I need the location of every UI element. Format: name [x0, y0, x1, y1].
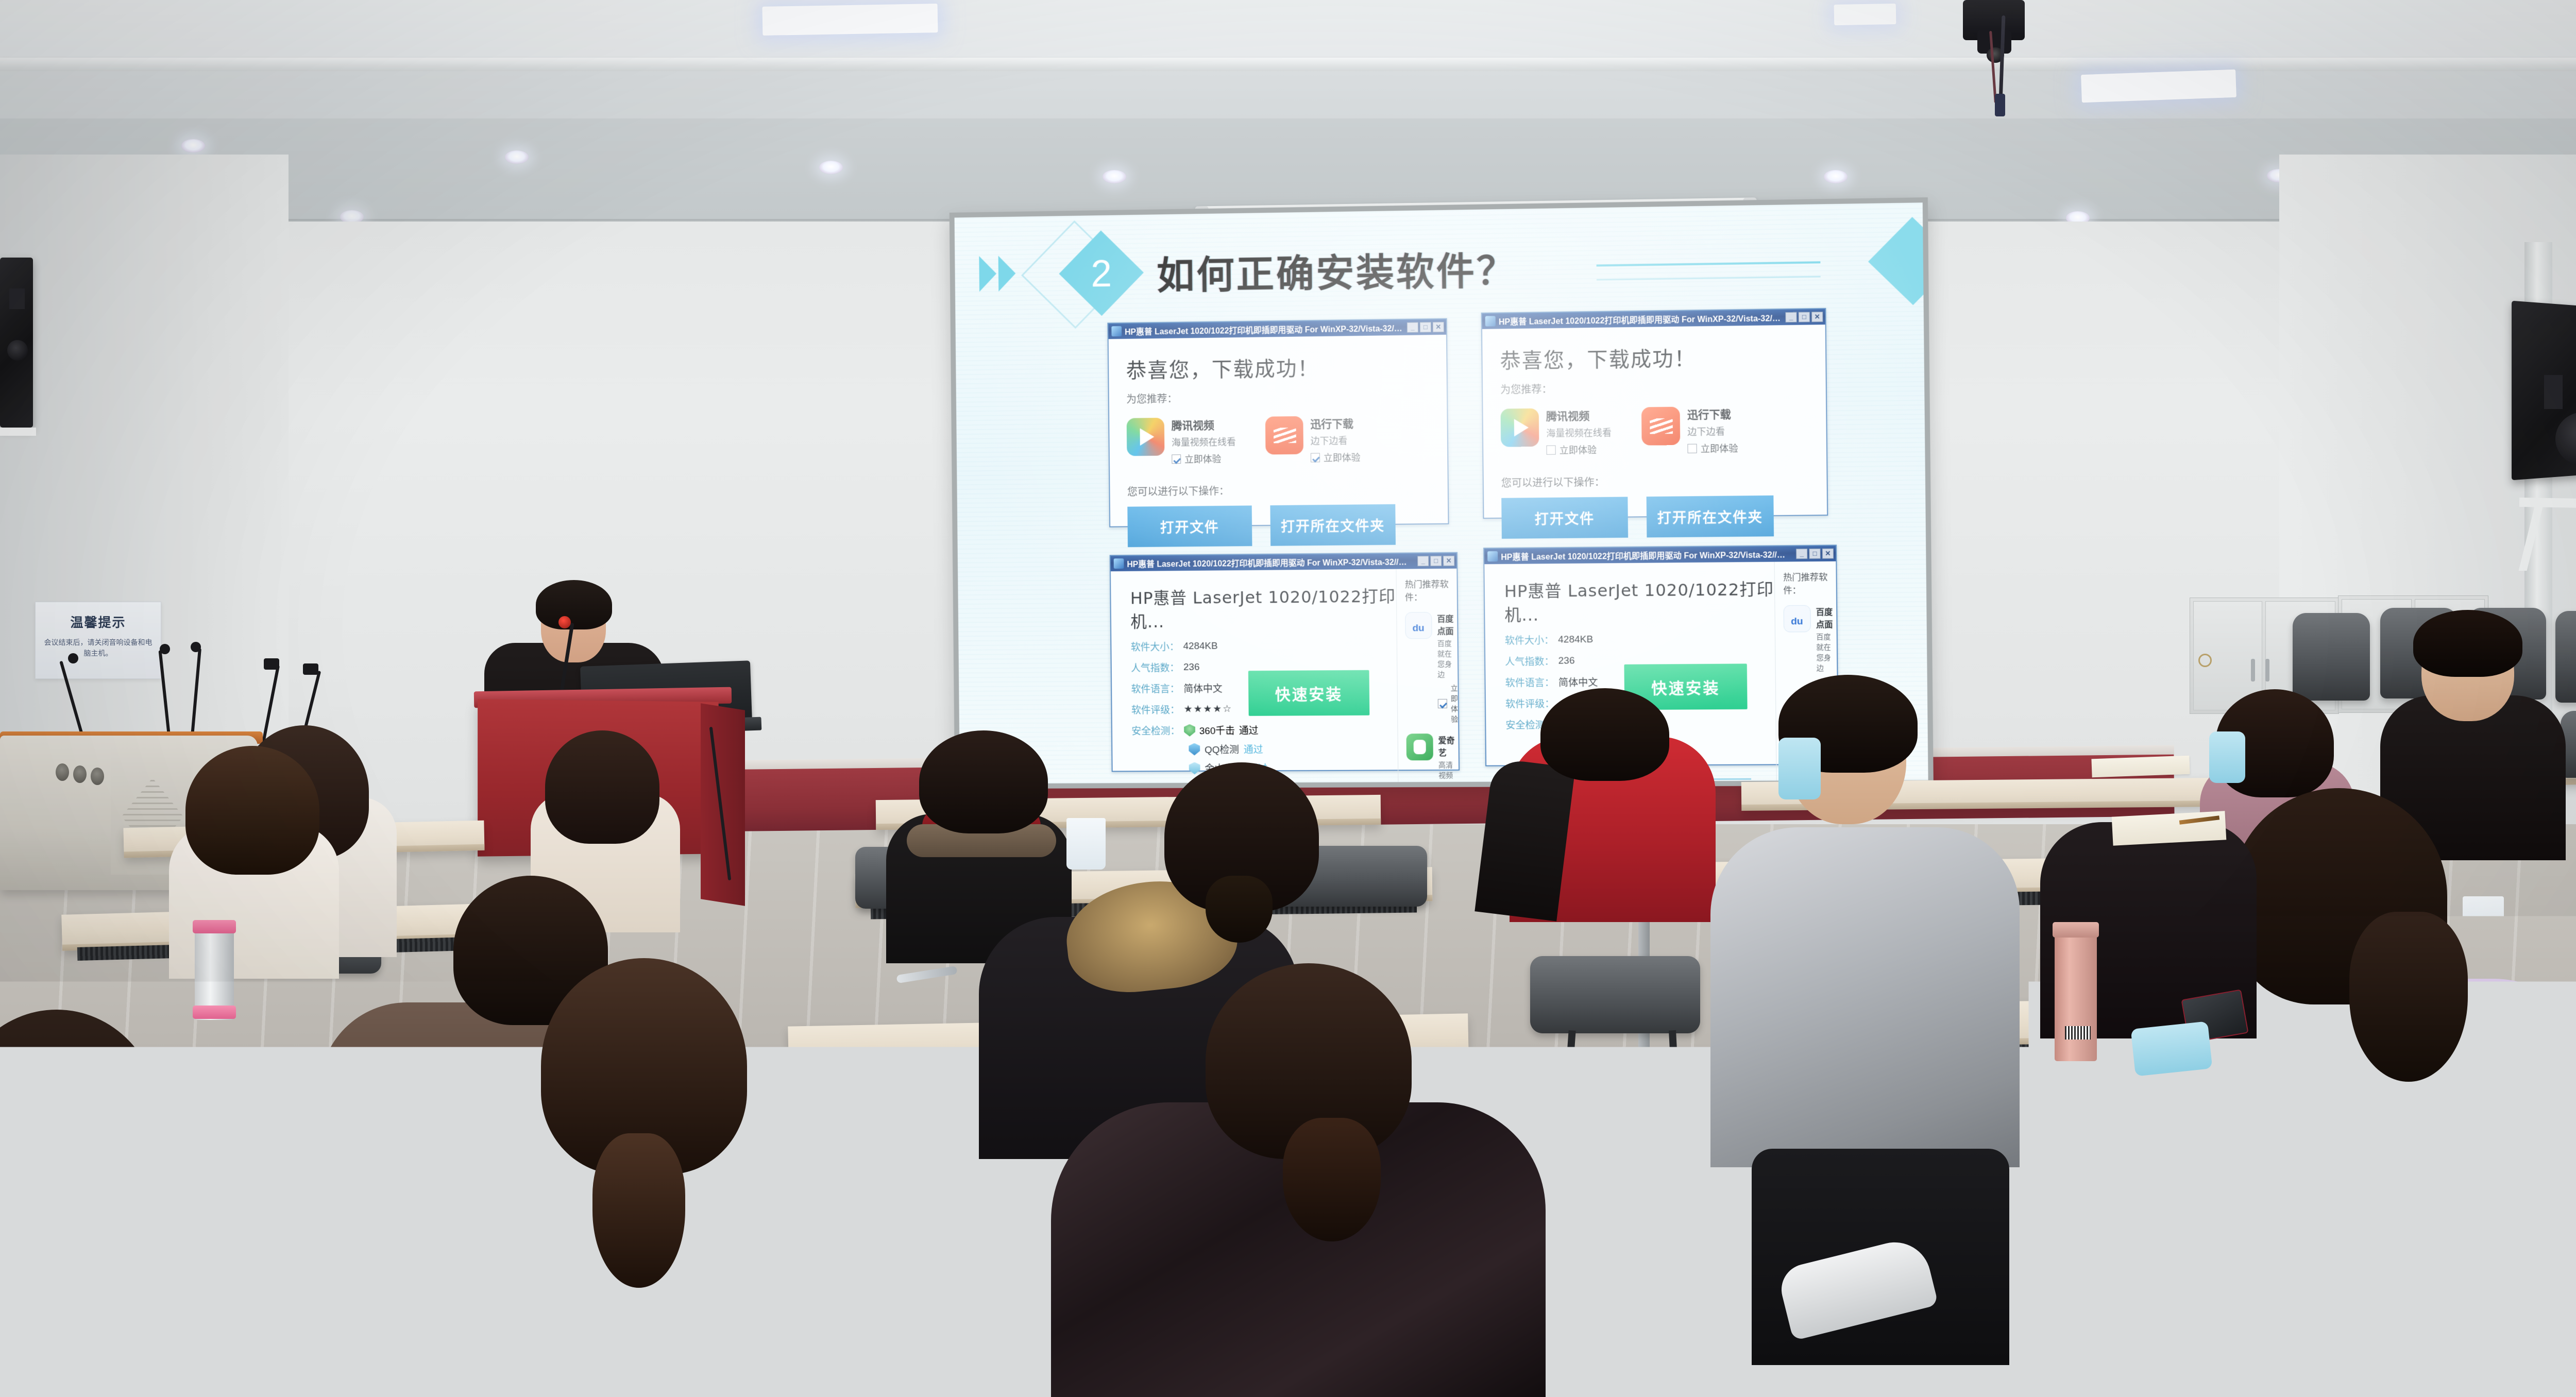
driver-field: 软件大小： 4284KB — [1131, 638, 1397, 654]
promo-name: 迅行下载 — [1687, 406, 1738, 422]
ceiling-coffer — [0, 0, 2576, 62]
console-microphone-head — [68, 653, 78, 663]
field-key: 软件评级： — [1505, 696, 1555, 711]
face-mask — [1778, 738, 1821, 799]
promo-checkbox[interactable] — [1172, 454, 1181, 464]
attendee-hair — [919, 730, 1048, 833]
security-status: 通过 — [1244, 742, 1263, 756]
app-icon — [1485, 316, 1496, 326]
promo-desc: 边下边看 — [1687, 424, 1738, 438]
console-port — [56, 763, 69, 781]
promo-checkbox-label: 立即体验 — [1324, 451, 1361, 465]
driver-field: 软件大小： 4284KB — [1505, 632, 1775, 648]
diamond-decoration-right — [1868, 217, 1928, 305]
window-controls[interactable]: _ □ ✕ — [1785, 312, 1823, 322]
promo-desc: 海量视频在线看 — [1172, 435, 1236, 449]
download-success-window-left[interactable]: HP惠普 LaserJet 1020/1022打印机即插即用驱动 For Win… — [1107, 318, 1449, 527]
window-title: HP惠普 LaserJet 1020/1022打印机即插即用驱动 For Win… — [1127, 555, 1414, 570]
promo-checkbox-row[interactable]: 立即体验 — [1546, 442, 1612, 456]
ceiling-downlight — [181, 139, 205, 152]
baidu-icon — [1405, 612, 1432, 639]
open-file-button[interactable]: 打开文件 — [1501, 497, 1628, 538]
chair[interactable] — [2293, 613, 2370, 701]
driver-heading: HP惠普 LaserJet 1020/1022打印机... — [1504, 576, 1775, 626]
notebook-on-desk[interactable] — [2112, 811, 2227, 845]
attendee-hair — [185, 746, 319, 875]
thermos-cap — [193, 920, 236, 933]
xunlei-icon — [1265, 416, 1303, 455]
field-value: 236 — [1183, 661, 1200, 673]
app-icon — [1114, 558, 1124, 569]
ceiling-downlight — [819, 161, 843, 174]
wall-notice-title: 温馨提示 — [41, 612, 156, 631]
field-key: 软件语言： — [1131, 682, 1179, 695]
recommend-label: 为您推荐： — [1500, 378, 1808, 396]
maximize-button[interactable]: □ — [1430, 556, 1442, 566]
open-folder-button[interactable]: 打开所在文件夹 — [1270, 504, 1396, 546]
promo-checkbox-row[interactable]: 立即体验 — [1687, 441, 1738, 455]
operations-label: 您可以进行以下操作： — [1127, 481, 1430, 499]
xunlei-icon — [1641, 407, 1680, 446]
header-rule — [1597, 261, 1821, 266]
sidebar-software-item[interactable]: 百度点面 百度就在您身边 立即体验 — [1405, 612, 1458, 725]
attendee-torso — [1710, 827, 2020, 1167]
security-check-row: QQ检测 通过 — [1189, 741, 1398, 756]
attendee-hair-bun — [1206, 876, 1273, 943]
action-button-row: 打开文件 打开所在文件夹 — [1127, 504, 1431, 547]
speaker-tweeter-icon — [9, 288, 25, 309]
security-check-row: 安全检测： 360千击 通过 — [1131, 722, 1397, 737]
header-rule-secondary — [1597, 276, 1821, 280]
promo-item[interactable]: 腾讯视频 海量视频在线看 立即体验 — [1127, 417, 1236, 466]
cabinet-handle[interactable] — [2251, 659, 2255, 682]
close-button[interactable]: ✕ — [1433, 322, 1444, 332]
shield-kingsoft-icon — [1189, 762, 1200, 774]
paper-cup[interactable] — [2463, 896, 2504, 951]
podium-microphone-head — [558, 616, 571, 628]
promo-list: 腾讯视频 海量视频在线看 立即体验 迅行下载 — [1500, 405, 1808, 457]
paper-cup[interactable] — [1066, 818, 1106, 870]
promo-list: 腾讯视频 海量视频在线看 立即体验 迅行下载 — [1127, 415, 1430, 466]
window-title: HP惠普 LaserJet 1020/1022打印机即插即用驱动 For Win… — [1501, 548, 1793, 563]
window-controls[interactable]: _ □ ✕ — [1796, 548, 1834, 559]
promo-checkbox-row[interactable]: 立即体验 — [1311, 451, 1361, 465]
quick-install-button[interactable]: 快速安装 — [1248, 670, 1369, 716]
promo-checkbox[interactable] — [1687, 444, 1697, 453]
download-success-heading: 恭喜您，下载成功！ — [1126, 350, 1429, 384]
cabinet-lock-icon — [2198, 654, 2212, 667]
step-number-badge: 2 — [1059, 230, 1143, 316]
field-value: 4284KB — [1183, 640, 1218, 652]
sidebar-title: 热门推荐软件： — [1783, 570, 1836, 596]
app-icon — [1487, 551, 1498, 561]
promo-checkbox-row[interactable]: 立即体验 — [1172, 452, 1236, 466]
rating-stars-icon: ★★★★☆ — [1184, 703, 1232, 715]
promo-item[interactable]: 腾讯视频 海量视频在线看 立即体验 — [1500, 407, 1612, 457]
iqiyi-icon — [1406, 734, 1433, 760]
field-key: 软件大小： — [1131, 639, 1179, 653]
window-title: HP惠普 LaserJet 1020/1022打印机即插即用驱动 For Win… — [1125, 321, 1404, 337]
software-desc: 百度就在您身边 — [1816, 632, 1837, 673]
speaker-bracket — [0, 428, 36, 436]
notebook-on-desk[interactable] — [2091, 756, 2190, 778]
software-checkbox[interactable] — [1438, 699, 1447, 708]
podium-side-panel — [701, 703, 745, 906]
minimize-button[interactable]: _ — [1785, 312, 1797, 322]
bag-on-desk — [2097, 1163, 2303, 1331]
download-success-window-right[interactable]: HP惠普 LaserJet 1020/1022打印机即插即用驱动 For Win… — [1481, 308, 1828, 519]
thermos-cap — [2053, 922, 2099, 938]
ceiling-downlight — [1103, 170, 1126, 183]
shield-qq-icon — [1189, 743, 1200, 756]
minimize-button[interactable]: _ — [1796, 549, 1808, 559]
thermos-base-ring — [193, 1006, 236, 1019]
sidebar-title: 热门推荐软件： — [1405, 577, 1457, 603]
console-port — [91, 768, 104, 785]
chair[interactable] — [1530, 956, 1700, 1033]
camera-cable-plug — [1995, 94, 2005, 116]
thermos-bottle-rose-gold[interactable] — [2055, 932, 2097, 1061]
field-value: 236 — [1558, 655, 1574, 667]
projection-screen-surface: 2 如何正确安装软件？ HP惠普 LaserJet 1020/1022打印机即插… — [955, 202, 1928, 783]
software-name: 百度点面 — [1816, 605, 1837, 630]
speaker-tweeter-icon — [2544, 375, 2563, 409]
promo-checkbox-label: 立即体验 — [1701, 441, 1738, 455]
slide-title: 如何正确安装软件？ — [1157, 240, 1517, 300]
open-file-button[interactable]: 打开文件 — [1127, 505, 1252, 547]
promo-checkbox-label: 立即体验 — [1184, 452, 1222, 466]
field-value: 简体中文 — [1558, 675, 1598, 689]
promo-name: 腾讯视频 — [1546, 407, 1612, 424]
ceiling-downlight — [505, 150, 529, 164]
software-desc: 百度就在您身边 — [1437, 638, 1458, 679]
attendee-ponytail — [2349, 912, 2468, 1082]
window-body: HP惠普 LaserJet 1020/1022打印机... 软件大小： 4284… — [1111, 569, 1462, 784]
field-key: 软件大小： — [1505, 633, 1554, 647]
window-controls[interactable]: _ □ ✕ — [1417, 556, 1454, 567]
sidebar-software-item[interactable]: 爱奇艺 高清视频在线看 立即体验 — [1406, 734, 1459, 784]
security-name: QQ检测 — [1205, 742, 1239, 756]
promo-name: 腾讯视频 — [1172, 417, 1236, 433]
window-controls[interactable]: _ □ ✕ — [1407, 322, 1444, 333]
attendee-hair — [2413, 610, 2522, 677]
ceiling-panel-light — [762, 4, 938, 36]
recommend-label: 为您推荐： — [1126, 387, 1429, 406]
console-microphone-head — [303, 663, 318, 675]
tencent-video-icon — [1500, 408, 1539, 447]
software-checkbox-label: 立即体验 — [1450, 683, 1458, 724]
window-title: HP惠普 LaserJet 1020/1022打印机即插即用驱动 For Win… — [1499, 311, 1783, 327]
console-microphone-head — [160, 644, 170, 654]
maximize-button[interactable]: □ — [1799, 312, 1810, 322]
promo-checkbox[interactable] — [1311, 453, 1320, 462]
wall-notice-body: 会议结束后，请关闭音响设备和电脑主机。 — [41, 637, 156, 659]
step-number-label: 2 — [1071, 243, 1131, 304]
action-button-row: 打开文件 打开所在文件夹 — [1501, 495, 1809, 539]
driver-info-window-left[interactable]: HP惠普 LaserJet 1020/1022打印机即插即用驱动 For Win… — [1110, 552, 1460, 772]
close-button[interactable]: ✕ — [1443, 556, 1454, 566]
field-value: 4284KB — [1558, 634, 1593, 645]
promo-item[interactable]: 迅行下载 边下边看 立即体验 — [1641, 406, 1738, 456]
promo-name: 迅行下载 — [1310, 416, 1360, 432]
maximize-button[interactable]: □ — [1809, 549, 1821, 559]
attendee-hair — [1540, 688, 1669, 781]
attendee-ponytail — [592, 1133, 685, 1288]
ceiling-panel-light — [1834, 4, 1896, 25]
app-icon — [1111, 326, 1122, 336]
lecture-room-photo: 温馨提示 会议结束后，请关闭音响设备和电脑主机。 设备柜 设备柜 Redleaf — [0, 0, 2576, 1397]
ceiling-cornice — [0, 58, 2576, 71]
download-success-heading: 恭喜您，下载成功！ — [1500, 340, 1808, 374]
face-mask-on-desk — [2131, 1021, 2213, 1076]
attendee-ponytail — [1283, 1118, 1381, 1241]
minimize-button[interactable]: _ — [1417, 556, 1429, 566]
thermos-label — [2065, 1026, 2091, 1040]
field-value: 简体中文 — [1183, 681, 1223, 695]
promo-desc: 海量视频在线看 — [1546, 425, 1612, 439]
presenter-hair — [536, 580, 612, 629]
speaker-driver-icon — [7, 340, 28, 361]
field-key: 软件评级： — [1131, 703, 1180, 717]
slide-header: 2 如何正确安装软件？ — [972, 227, 1910, 308]
projection-screen: 2 如何正确安装软件？ HP惠普 LaserJet 1020/1022打印机即插… — [950, 197, 1934, 789]
open-folder-button[interactable]: 打开所在文件夹 — [1647, 496, 1774, 538]
tencent-video-icon — [1127, 418, 1165, 456]
chair[interactable] — [2555, 611, 2576, 703]
maximize-button[interactable]: □ — [1420, 322, 1431, 332]
recommended-software-sidebar: 热门推荐软件： 百度点面 百度就在您身边 立即体验 — [1396, 569, 1461, 784]
cabinet-handle[interactable] — [2265, 659, 2269, 682]
promo-checkbox[interactable] — [1546, 446, 1555, 455]
security-label: 安全检测： — [1131, 723, 1180, 737]
security-status: 通过 — [1239, 723, 1259, 737]
shield-360-icon — [1184, 724, 1195, 737]
minimize-button[interactable]: _ — [1407, 322, 1418, 332]
field-key: 人气指数： — [1131, 660, 1179, 674]
ceiling-panel-light — [2081, 70, 2236, 103]
console-port — [73, 765, 87, 783]
security-name: 360千击 — [1199, 723, 1235, 737]
field-key: 人气指数： — [1505, 654, 1554, 669]
ceiling-downlight — [1824, 170, 1848, 183]
close-button[interactable]: ✕ — [1811, 312, 1823, 322]
promo-desc: 边下边看 — [1311, 434, 1361, 448]
console-microphone-head — [264, 658, 279, 670]
promo-checkbox-label: 立即体验 — [1560, 443, 1597, 457]
software-desc: 高清视频在线看 — [1438, 760, 1459, 784]
software-name: 百度点面 — [1437, 612, 1457, 637]
software-name: 爱奇艺 — [1438, 734, 1458, 758]
close-button[interactable]: ✕ — [1822, 548, 1834, 558]
driver-detail-pane: HP惠普 LaserJet 1020/1022打印机... 软件大小： 4284… — [1111, 569, 1401, 784]
baidu-icon — [1784, 605, 1811, 633]
wall-notice-sign: 温馨提示 会议结束后，请关闭音响设备和电脑主机。 — [35, 602, 161, 679]
field-key: 软件语言： — [1505, 675, 1554, 690]
console-microphone-head — [191, 642, 201, 652]
attendee-hair — [545, 730, 659, 844]
driver-heading: HP惠普 LaserJet 1020/1022打印机... — [1130, 584, 1397, 633]
promo-item[interactable]: 迅行下载 边下边看 立即体验 — [1265, 416, 1361, 465]
face-mask — [2209, 731, 2245, 783]
operations-label: 您可以进行以下操作： — [1501, 472, 1809, 490]
software-checkbox-row[interactable]: 立即体验 — [1437, 683, 1458, 724]
